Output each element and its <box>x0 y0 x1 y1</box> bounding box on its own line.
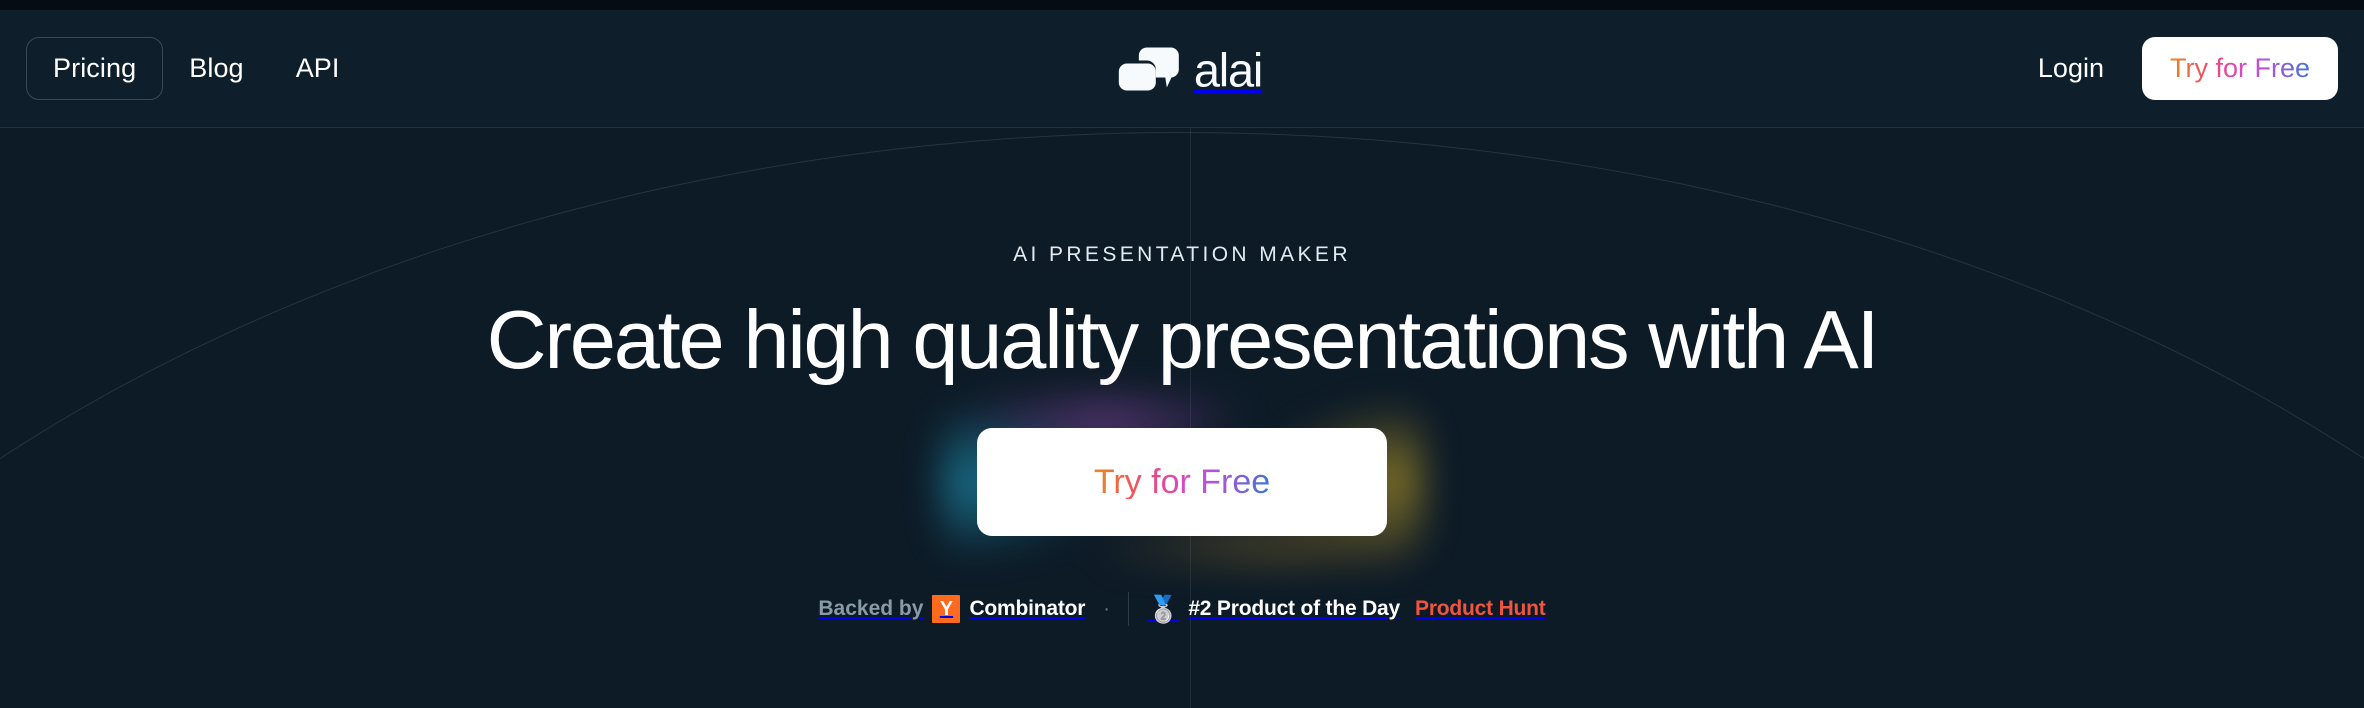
hero-section: AI Presentation Maker Create high qualit… <box>0 128 2364 708</box>
hero-eyebrow: AI Presentation Maker <box>1013 244 1351 265</box>
y-combinator-icon: Y <box>932 595 960 623</box>
medal-icon: 🥈 <box>1147 596 1179 622</box>
nav-link-pricing[interactable]: Pricing <box>26 37 163 100</box>
brand-logo[interactable]: alai <box>1118 45 1262 92</box>
top-navigation-bar: Pricing Blog API <box>0 10 2364 128</box>
y-combinator-name: Combinator <box>969 598 1085 619</box>
brand-name: alai <box>1194 46 1262 93</box>
landing-page: Pricing Blog API <box>0 0 2364 708</box>
nav-try-for-free-label: Try for Free <box>2170 53 2310 83</box>
badge-separator: · <box>1085 599 1128 619</box>
nav-link-blog[interactable]: Blog <box>163 38 269 99</box>
nav-link-api[interactable]: API <box>270 38 366 99</box>
y-combinator-badge[interactable]: Backed by Y Combinator <box>818 595 1085 623</box>
badge-divider <box>1128 592 1129 626</box>
page-title: Create high quality presentations with A… <box>487 295 1878 385</box>
social-proof-badges: Backed by Y Combinator · 🥈 #2 Product of… <box>818 592 1545 626</box>
hero-try-for-free-button[interactable]: Try for Free <box>977 428 1387 536</box>
product-hunt-badge[interactable]: 🥈 #2 Product of the Day Product Hunt <box>1147 596 1546 622</box>
nav-actions-group: Login Try for Free <box>2016 37 2338 100</box>
browser-top-strip <box>0 0 2364 10</box>
backed-by-label: Backed by <box>818 598 923 619</box>
product-hunt-rank: #2 Product of the Day <box>1188 598 1400 619</box>
nav-links-group: Pricing Blog API <box>26 37 366 100</box>
nav-try-for-free-button[interactable]: Try for Free <box>2142 37 2338 100</box>
product-hunt-brand: Product Hunt <box>1415 598 1546 619</box>
login-link[interactable]: Login <box>2016 39 2126 98</box>
speech-bubbles-icon <box>1118 46 1180 91</box>
hero-try-for-free-label: Try for Free <box>1094 465 1270 499</box>
hero-cta-wrapper: Try for Free <box>977 428 1387 536</box>
